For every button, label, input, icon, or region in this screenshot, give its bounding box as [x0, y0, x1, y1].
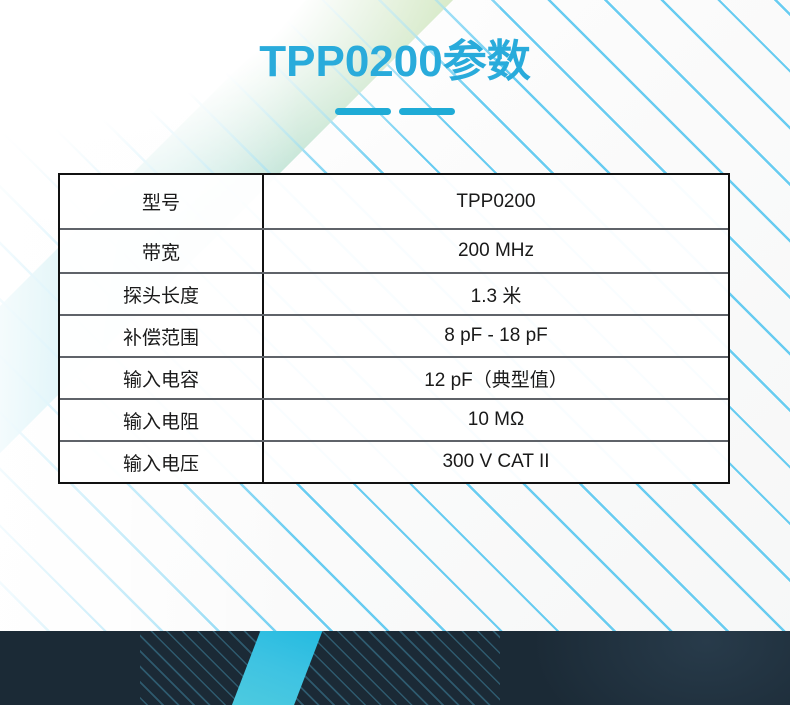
footer-band [0, 631, 790, 705]
table-row: 带宽 200 MHz [60, 229, 728, 273]
spec-label-probe-length: 探头长度 [60, 273, 263, 315]
spec-label-input-capacitance: 输入电容 [60, 357, 263, 399]
spec-label-input-voltage: 输入电压 [60, 441, 263, 482]
table-row: 输入电压 300 V CAT II [60, 441, 728, 482]
title-divider-segment-right [399, 108, 455, 115]
spec-table-element: 型号 TPP0200 带宽 200 MHz 探头长度 1.3 米 补偿范围 8 … [60, 175, 728, 482]
spec-value-model: TPP0200 [263, 175, 728, 229]
spec-label-compensation-range: 补偿范围 [60, 315, 263, 357]
title-divider [335, 108, 455, 115]
spec-value-input-capacitance: 12 pF（典型值） [263, 357, 728, 399]
table-row: 探头长度 1.3 米 [60, 273, 728, 315]
page-title: TPP0200参数 [0, 38, 790, 86]
spec-value-compensation-range: 8 pF - 18 pF [263, 315, 728, 357]
spec-value-input-voltage: 300 V CAT II [263, 441, 728, 482]
page-heading: TPP0200参数 [0, 38, 790, 115]
spec-label-input-resistance: 输入电阻 [60, 399, 263, 441]
table-row: 输入电容 12 pF（典型值） [60, 357, 728, 399]
spec-label-bandwidth: 带宽 [60, 229, 263, 273]
table-row: 型号 TPP0200 [60, 175, 728, 229]
footer-diagonal-stripes [140, 631, 500, 705]
title-divider-segment-left [335, 108, 391, 115]
specification-table: 型号 TPP0200 带宽 200 MHz 探头长度 1.3 米 补偿范围 8 … [58, 173, 730, 484]
spec-value-probe-length: 1.3 米 [263, 273, 728, 315]
spec-value-bandwidth: 200 MHz [263, 229, 728, 273]
table-row: 补偿范围 8 pF - 18 pF [60, 315, 728, 357]
footer-glow [530, 631, 790, 705]
spec-label-model: 型号 [60, 175, 263, 229]
spec-table-body: 型号 TPP0200 带宽 200 MHz 探头长度 1.3 米 补偿范围 8 … [60, 175, 728, 482]
table-row: 输入电阻 10 MΩ [60, 399, 728, 441]
spec-value-input-resistance: 10 MΩ [263, 399, 728, 441]
